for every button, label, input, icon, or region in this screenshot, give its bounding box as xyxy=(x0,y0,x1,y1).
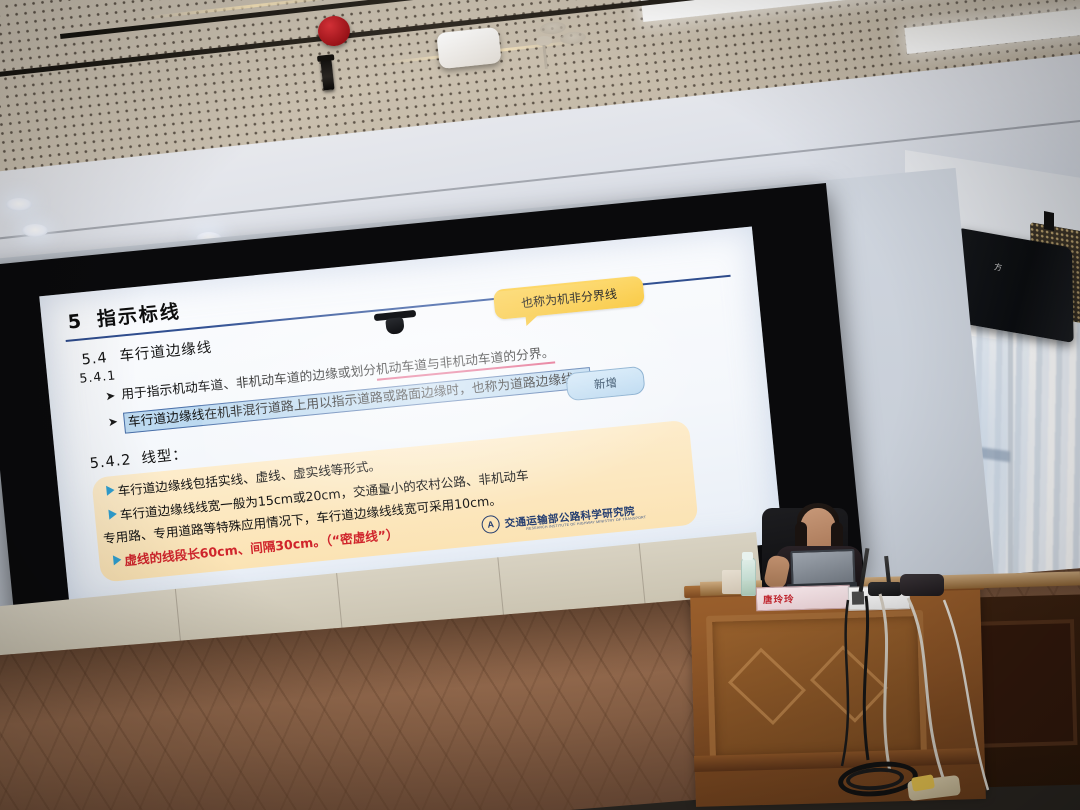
slide-title-text: 指示标线 xyxy=(96,301,182,331)
section-5-4-heading: 5.4车行道边缘线 xyxy=(81,336,213,370)
wall-speaker-icon xyxy=(960,228,1074,343)
triangle-bullet-icon xyxy=(108,509,117,520)
wifi-access-point-icon xyxy=(436,27,501,69)
presenter-nameplate: 唐玲玲 xyxy=(756,585,851,612)
section-5-4-text: 车行道边缘线 xyxy=(119,340,213,365)
podium-right-panel xyxy=(970,619,1077,748)
speaker-mount-bracket xyxy=(1044,211,1054,231)
desk-equipment xyxy=(900,574,944,596)
recessed-downlight xyxy=(6,198,32,211)
slide-title-number: 5 xyxy=(67,310,84,333)
conference-room-photo: 方 5指示标线 5.4车行道边缘线 5.4.1 ➤ 用于指示机动车道、非机动车道… xyxy=(0,0,1080,810)
section-5-4-2-text: 线型： xyxy=(141,447,189,467)
podium-diamond-ornament xyxy=(810,645,888,722)
section-5-4-2-heading: 5.4.2线型： xyxy=(89,443,189,474)
section-5-4-number: 5.4 xyxy=(81,350,108,368)
triangle-bullet-icon xyxy=(113,555,122,566)
paper-cup xyxy=(722,570,742,594)
speaker-brand-label: 方 xyxy=(993,261,1003,273)
section-5-4-2-number: 5.4.2 xyxy=(89,452,132,472)
triangle-bullet-icon xyxy=(106,485,115,496)
podium-diamond-ornament xyxy=(728,648,806,725)
bottle-cap xyxy=(742,552,753,560)
arrow-bullet-icon: ➤ xyxy=(105,387,117,404)
presenter-name: 唐玲玲 xyxy=(763,591,795,606)
water-bottle xyxy=(741,558,756,596)
logo-mark-icon: A xyxy=(481,515,501,535)
podium-front-panel xyxy=(706,610,927,763)
recessed-downlight xyxy=(22,224,48,237)
microphone-base xyxy=(868,582,902,596)
section-5-4-1-number: 5.4.1 xyxy=(79,367,117,386)
arrow-bullet-icon: ➤ xyxy=(107,413,119,430)
